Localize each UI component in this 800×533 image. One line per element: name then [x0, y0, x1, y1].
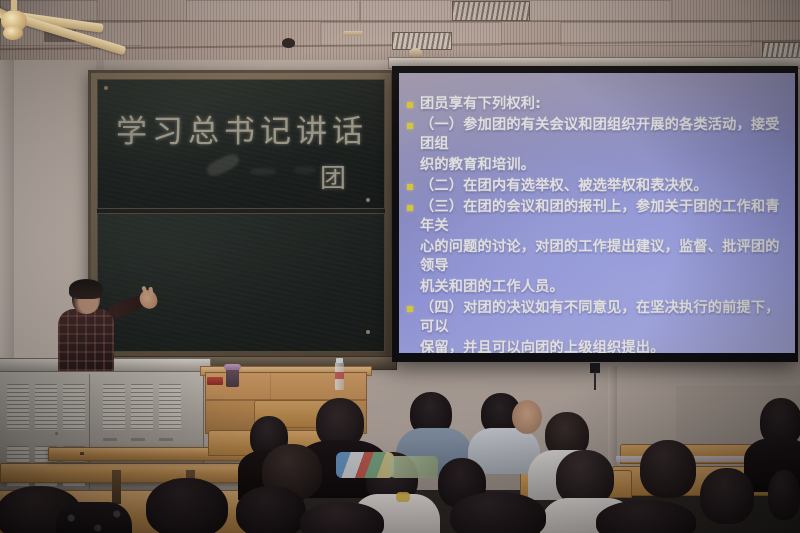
ceiling-speaker-dome	[282, 38, 295, 48]
slide-line-text: 织的教育和培训。	[420, 156, 535, 175]
cabinet-vent	[131, 384, 153, 430]
blackboard-clip	[104, 86, 108, 90]
jacket-on-bench	[390, 456, 438, 478]
blackboard-sub-text: 团	[320, 158, 346, 195]
slide-line: （四）对团的决议如有不同意见，在坚决执行的前提下，可以	[405, 299, 787, 337]
hair-clip	[396, 492, 410, 502]
cabinet-vent	[159, 384, 181, 430]
bullet-spacer	[407, 245, 413, 251]
student-head	[236, 486, 306, 533]
slide-bullet-list: 团员享有下列权利: （一）参加团的有关会议和团组织开展的各类活动，接受团组 织的…	[405, 95, 787, 353]
bullet-spacer	[407, 163, 413, 169]
chalk-smudge	[205, 151, 242, 178]
student-head	[700, 468, 754, 524]
thermos-cup-lid	[224, 364, 241, 370]
ceiling-light	[409, 48, 422, 57]
ceiling-fan-light	[3, 26, 23, 40]
slide-line-text: （一）参加团的有关会议和团组织开展的各类活动，接受团组	[420, 116, 787, 154]
red-box-object	[207, 377, 223, 385]
cabinet-vent	[35, 384, 57, 430]
cabinet-vent	[7, 384, 29, 430]
ceiling-fan-rod	[11, 0, 17, 10]
blackboard-lower-panel	[97, 213, 385, 352]
blackboard: 学习总书记讲话 团	[88, 70, 394, 361]
ceiling-vent	[762, 42, 800, 58]
bullet-marker-icon	[407, 102, 413, 108]
student-head	[596, 500, 696, 533]
cabinet-vent	[103, 384, 125, 430]
ceiling-tile	[186, 0, 360, 22]
slide-line: 团员享有下列权利:	[405, 95, 787, 114]
water-bottle-cap	[336, 358, 343, 363]
ceiling-vent	[452, 1, 530, 21]
bullet-marker-icon	[407, 123, 413, 129]
water-bottle-label	[335, 372, 344, 379]
ceiling-tile	[560, 22, 752, 46]
ceiling-vent	[392, 32, 452, 50]
chalk-smudge	[294, 166, 316, 174]
ceiling-tile	[510, 0, 672, 22]
student-head	[300, 502, 384, 533]
desk-detail	[80, 452, 84, 455]
bullet-marker-icon	[407, 306, 413, 312]
slide-line-text: 团员享有下列权利:	[420, 95, 541, 114]
projection-screen[interactable]: 团员享有下列权利: （一）参加团的有关会议和团组织开展的各类活动，接受团组 织的…	[392, 66, 798, 362]
slide-line-text: 机关和团的工作人员。	[420, 278, 564, 297]
cabinet-handle[interactable]	[159, 438, 173, 441]
cabinet-vent	[63, 384, 85, 430]
desk-leg	[112, 470, 121, 504]
ceiling-light	[343, 31, 363, 36]
bullet-marker-icon	[407, 184, 413, 190]
blackboard-clip	[366, 198, 370, 202]
student-head	[640, 440, 696, 498]
slide-line: （三）在团的会议和团的报刊上，参加关于团的工作和青年关	[405, 198, 787, 236]
presentation-slide: 团员享有下列权利: （一）参加团的有关会议和团组织开展的各类活动，接受团组 织的…	[399, 73, 795, 353]
slide-line-text: 保留，并且可以向团的上级组织提出。	[420, 339, 665, 353]
classroom-photo-scene: 学习总书记讲话 团 团员享有下列权利:	[0, 0, 800, 533]
bullet-marker-icon	[407, 205, 413, 211]
student-desk	[0, 463, 252, 483]
student-head	[146, 478, 228, 533]
slide-line: 心的问题的讨论，对团的工作提出建议，监督、批评团的领导	[405, 238, 787, 276]
student-body-patterned	[56, 502, 132, 533]
colorful-bag	[336, 452, 394, 478]
slide-line-text: （二）在团内有选举权、被选举权和表决权。	[420, 177, 708, 196]
slide-line-text: （三）在团的会议和团的报刊上，参加关于团的工作和青年关	[420, 198, 787, 236]
slide-line: 机关和团的工作人员。	[405, 278, 787, 297]
presenter-torso	[58, 309, 114, 371]
cabinet-lock[interactable]	[55, 432, 58, 435]
blackboard-inner: 学习总书记讲话 团	[97, 79, 385, 352]
blackboard-upper-panel: 学习总书记讲话 团	[97, 79, 385, 209]
slide-line: 保留，并且可以向团的上级组织提出。	[405, 339, 787, 353]
thermos-cup	[226, 368, 239, 387]
slide-line-text: （四）对团的决议如有不同意见，在坚决执行的前提下，可以	[420, 299, 787, 337]
cabinet-handle[interactable]	[103, 438, 117, 441]
slide-line: 织的教育和培训。	[405, 156, 787, 175]
student-head	[512, 400, 542, 434]
slide-line: （一）参加团的有关会议和团组织开展的各类活动，接受团组	[405, 116, 787, 154]
screen-pull-cord[interactable]	[594, 372, 596, 390]
cabinet-handle[interactable]	[131, 438, 145, 441]
wall-edge	[0, 60, 14, 360]
slide-line-text: 心的问题的讨论，对团的工作提出建议，监督、批评团的领导	[420, 238, 787, 276]
student-head	[768, 470, 800, 520]
bullet-spacer	[407, 346, 413, 352]
blackboard-main-text: 学习总书记讲话	[116, 106, 368, 151]
blackboard-clip	[366, 330, 370, 334]
presenter-hair	[69, 279, 103, 299]
bullet-spacer	[407, 285, 413, 291]
chalk-smudge	[250, 168, 276, 175]
student-head	[450, 492, 546, 533]
slide-line: （二）在团内有选举权、被选举权和表决权。	[405, 177, 787, 196]
